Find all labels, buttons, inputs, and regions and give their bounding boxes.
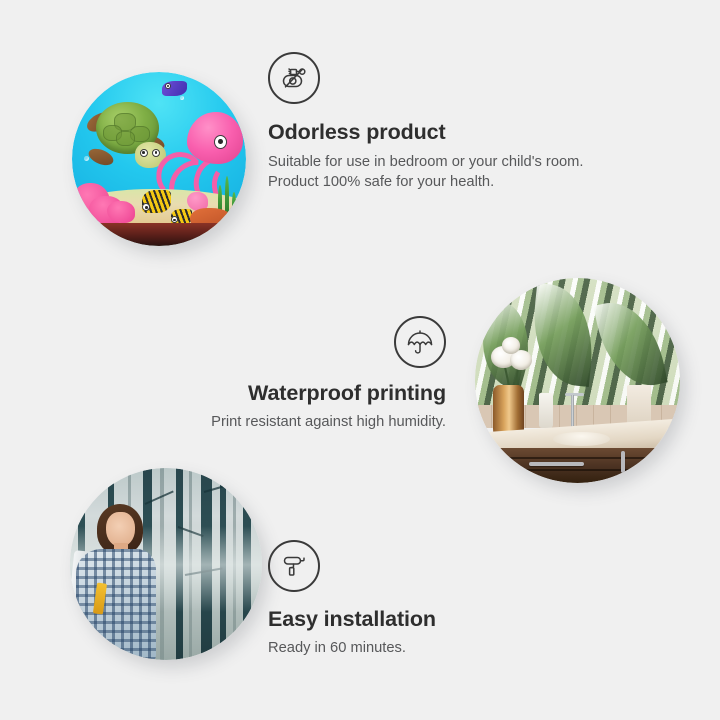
feature-description: Print resistant against high humidity.	[150, 412, 446, 432]
image-woman-forest-mural	[70, 468, 262, 660]
feature-waterproof-printing: Waterproof printing Print resistant agai…	[150, 316, 446, 432]
seagrass	[232, 192, 236, 216]
woman-face	[106, 512, 135, 547]
turtle-eye-icon	[140, 149, 148, 157]
shell-scale	[116, 131, 134, 147]
feature-description: Suitable for use in bedroom or your chil…	[268, 152, 590, 193]
cabinet-handle	[621, 451, 625, 473]
no-odor-spray-bottle-icon	[268, 52, 320, 104]
feature-odorless-product: Odorless product Suitable for use in bed…	[268, 52, 598, 193]
image-underwater-mural	[72, 72, 246, 246]
faucet-spout	[565, 393, 583, 396]
vanity-drawer-seam	[496, 469, 681, 471]
promo-infographic: Odorless product Suitable for use in bed…	[0, 0, 720, 720]
white-rose	[502, 337, 520, 353]
woman-plaid-shirt	[76, 549, 157, 660]
turtle-eye-icon	[152, 149, 160, 157]
vanity-drawer-seam	[496, 457, 681, 459]
umbrella-icon	[394, 316, 446, 368]
sink-basin	[553, 432, 610, 446]
bathroom-scene	[475, 278, 680, 483]
feature-title: Easy installation	[268, 607, 598, 632]
seagrass	[225, 176, 229, 214]
wood-vanity	[496, 448, 681, 483]
feature-title: Odorless product	[268, 120, 598, 145]
forest-scene	[70, 468, 262, 660]
feature-title: Waterproof printing	[150, 381, 446, 406]
foreground-reef-shadow	[72, 223, 246, 246]
feature-description: Ready in 60 minutes.	[268, 638, 598, 658]
soap-dispenser	[539, 393, 553, 428]
drawer-handle	[529, 462, 584, 466]
octopus-eye-icon	[214, 135, 227, 149]
image-tropical-bathroom	[475, 278, 680, 483]
underwater-scene	[72, 72, 246, 246]
feature-easy-installation: Easy installation Ready in 60 minutes.	[268, 540, 598, 658]
paint-roller-icon	[268, 540, 320, 592]
